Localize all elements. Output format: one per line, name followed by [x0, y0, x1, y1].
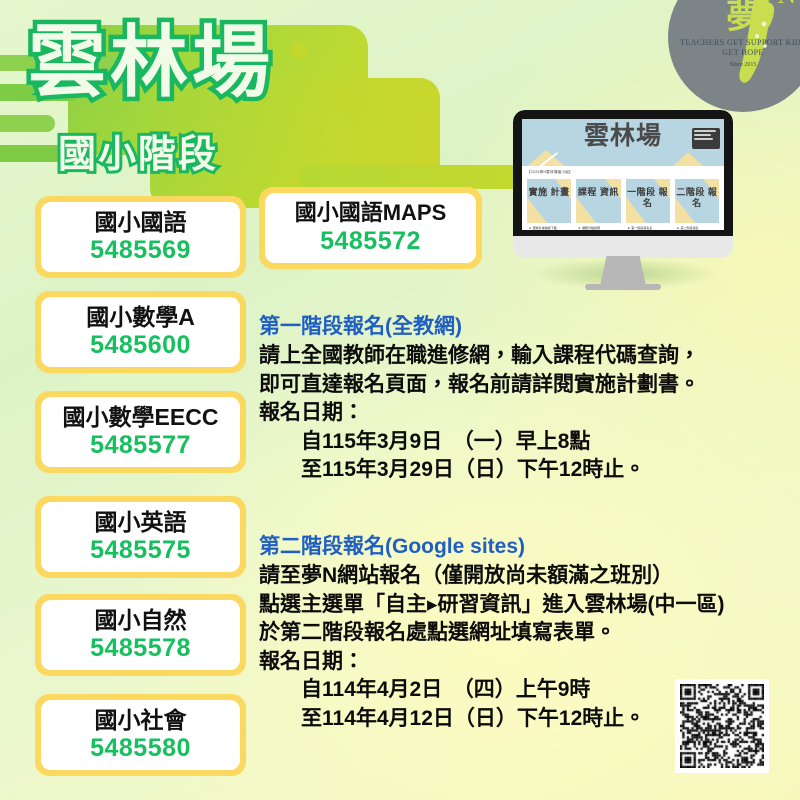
menu-line — [694, 130, 716, 132]
website-card-wrap[interactable]: 一階段 報名 ► 第一階段報名表 2025/03/09 — [626, 179, 670, 230]
decorative-dot-small — [291, 42, 307, 58]
decorative-stripe-3 — [0, 115, 55, 132]
website-card-meta: ► 課程分組說明 2025/03/01 — [576, 223, 620, 230]
poster-canvas: N 夢 TEACHERS GET SUPPORT KIDS GET HOPE S… — [0, 0, 800, 800]
course-name: 國小自然 — [95, 607, 187, 633]
monitor-base — [585, 284, 661, 290]
stage1-date-start: 自115年3月9日 （一）早上8點 — [259, 428, 789, 457]
stage1-heading: 第一階段報名(全教網) — [259, 313, 789, 340]
menu-line — [694, 134, 711, 136]
course-code: 5485575 — [90, 535, 191, 565]
menu-line — [694, 138, 713, 140]
monitor-stand — [600, 256, 646, 286]
website-card[interactable]: 一階段 報名 — [626, 179, 670, 223]
course-name: 國小國語MAPS — [295, 200, 447, 225]
stage1-line: 請上全國教師在職進修網，輸入課程代碼查詢， — [259, 342, 789, 371]
website-card[interactable]: 課程 資訊 — [576, 179, 620, 223]
banner-triangle-right — [660, 152, 716, 166]
course-code: 5485569 — [90, 235, 191, 265]
website-card-link[interactable]: ► 第二階段報名 — [677, 226, 719, 230]
stage2-line: 於第二階段報名處點選網址填寫表單。 — [259, 619, 789, 648]
website-menu-box — [692, 128, 720, 149]
course-code: 5485578 — [90, 633, 191, 663]
course-code: 5485600 — [90, 330, 191, 360]
course-code: 5485572 — [320, 226, 421, 256]
website-card-wrap[interactable]: 二階段 報名 ► 第二階段報名 2025/04/02 — [675, 179, 719, 230]
logo-inner: N 夢 TEACHERS GET SUPPORT KIDS GET HOPE S… — [668, 0, 800, 112]
course-card[interactable]: 國小社會 5485580 — [35, 694, 246, 776]
course-card-inner: 國小國語 5485569 — [41, 202, 240, 272]
course-card-inner: 國小自然 5485578 — [41, 600, 240, 670]
course-card-inner: 國小社會 5485580 — [41, 700, 240, 770]
website-banner: 雲林場 — [522, 119, 724, 166]
stage2-line: 點選主選單「自主▸研習資訊」進入雲林場(中一區) — [259, 591, 789, 620]
course-card[interactable]: 國小國語 5485569 — [35, 196, 246, 278]
stage1-info-block: 第一階段報名(全教網) 請上全國教師在職進修網，輸入課程代碼查詢， 即可直達報名… — [259, 313, 789, 485]
stage2-dates-label: 報名日期： — [259, 648, 789, 677]
website-card-label: 實施 計畫 — [527, 187, 571, 198]
qr-code[interactable] — [675, 679, 769, 773]
logo-tagline: TEACHERS GET SUPPORT KIDS GET HOPE — [676, 38, 800, 58]
website-card-meta: ► 實施計畫檔案下載 2025/03/01 — [527, 223, 571, 230]
monitor-screen-bezel: 雲林場 【2025夢N雲林場國小組】 — [513, 110, 733, 236]
card-corner-shape — [576, 197, 596, 223]
monitor-chin — [513, 236, 733, 258]
course-card[interactable]: 國小自然 5485578 — [35, 594, 246, 676]
course-card[interactable]: 國小英語 5485575 — [35, 496, 246, 578]
course-card[interactable]: 國小數學A 5485600 — [35, 291, 246, 373]
website-card-wrap[interactable]: 課程 資訊 ► 課程分組說明 2025/03/01 — [576, 179, 620, 230]
monitor-illustration: 雲林場 【2025夢N雲林場國小組】 — [513, 110, 733, 295]
course-card-inner: 國小國語MAPS 5485572 — [265, 193, 476, 263]
course-name: 國小數學EECC — [63, 404, 219, 430]
website-card-label: 一階段 報名 — [626, 187, 670, 210]
website-card-link[interactable]: ► 課程分組說明 — [578, 226, 620, 230]
course-name: 國小數學A — [86, 304, 195, 330]
course-card-inner: 國小數學EECC 5485577 — [41, 397, 240, 467]
course-name: 國小國語 — [95, 209, 187, 235]
decorative-dot-large — [333, 84, 365, 116]
logo-dream-char: 夢 — [726, 0, 760, 34]
website-card-label: 二階段 報名 — [675, 187, 719, 210]
course-code: 5485580 — [90, 733, 191, 763]
website-card-row: 實施 計畫 ► 實施計畫檔案下載 2025/03/01 課程 資 — [522, 175, 724, 230]
stage2-line: 請至夢N網站報名（僅開放尚未額滿之班別） — [259, 562, 789, 591]
website-card-meta: ► 第二階段報名 2025/04/02 — [675, 223, 719, 230]
course-card-inner: 國小英語 5485575 — [41, 502, 240, 572]
stage1-dates-label: 報名日期： — [259, 399, 789, 428]
logo-letter-n: N — [777, 0, 796, 8]
course-name: 國小社會 — [95, 707, 187, 733]
website-card-meta: ► 第一階段報名表 2025/03/09 — [626, 223, 670, 230]
stage2-heading: 第二階段報名(Google sites) — [259, 533, 789, 560]
monitor-body: 雲林場 【2025夢N雲林場國小組】 — [513, 110, 733, 258]
website-card[interactable]: 二階段 報名 — [675, 179, 719, 223]
qr-code-image — [680, 684, 764, 768]
website-card-link[interactable]: ► 實施計畫檔案下載 — [529, 226, 571, 230]
stage1-line: 即可直達報名頁面，報名前請詳閱實施計劃書。 — [259, 371, 789, 400]
website-card-wrap[interactable]: 實施 計畫 ► 實施計畫檔案下載 2025/03/01 — [527, 179, 571, 230]
website-card[interactable]: 實施 計畫 — [527, 179, 571, 223]
stage1-date-end: 至115年3月29日（日）下午12時止。 — [259, 456, 789, 485]
website-preview: 雲林場 【2025夢N雲林場國小組】 — [522, 119, 724, 230]
dream-n-logo: N 夢 TEACHERS GET SUPPORT KIDS GET HOPE S… — [668, 0, 800, 112]
website-card-link[interactable]: ► 第一階段報名表 — [628, 226, 670, 230]
course-card-featured[interactable]: 國小國語MAPS 5485572 — [259, 187, 482, 269]
card-corner-shape — [527, 197, 547, 223]
page-title: 雲林場 — [28, 20, 274, 104]
course-code: 5485577 — [90, 430, 191, 460]
course-card-inner: 國小數學A 5485600 — [41, 297, 240, 367]
course-name: 國小英語 — [95, 509, 187, 535]
course-card[interactable]: 國小數學EECC 5485577 — [35, 391, 246, 473]
logo-since: Since 2015 — [676, 62, 800, 68]
page-subtitle: 國小階段 — [58, 135, 218, 177]
website-card-label: 課程 資訊 — [576, 187, 620, 198]
